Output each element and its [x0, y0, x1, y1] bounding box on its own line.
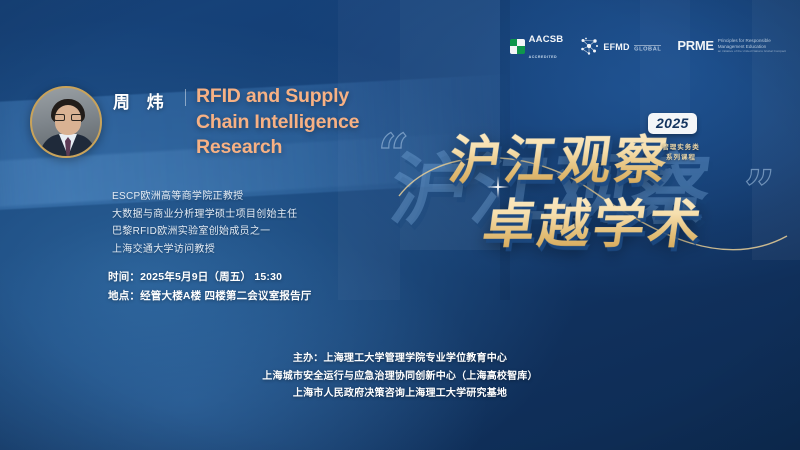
speaker-name: 周 炜 — [113, 88, 170, 113]
organizer-line: 主办：上海理工大学管理学院专业学位教育中心 — [0, 350, 800, 368]
speaker-credentials: ESCP欧洲高等商学院正教授 大数据与商业分析理学硕士项目创始主任 巴黎RFID… — [112, 188, 297, 258]
aacsb-logo-secondary: ACCREDITED — [529, 55, 558, 59]
event-time: 时间：2025年5月9日（周五） 15:30 — [108, 268, 312, 287]
series-subtitle-line1: 管理实务类 — [650, 143, 712, 153]
organizer-line: 上海城市安全运行与应急治理协同创新中心（上海高校智库） — [0, 368, 800, 386]
credential-line: ESCP欧洲高等商学院正教授 — [112, 188, 297, 206]
poster-canvas: AACSB ACCREDITED EFMD GL — [0, 0, 800, 450]
series-subtitle-line2: 系列课程 — [650, 153, 712, 163]
organizer-line: 上海市人民政府决策咨询上海理工大学研究基地 — [0, 385, 800, 403]
prme-logo-primary: PRME — [677, 38, 713, 53]
efmd-logo-secondary: GLOBAL — [634, 45, 661, 53]
event-details: 时间：2025年5月9日（周五） 15:30 地点：经管大楼A楼 四楼第二会议室… — [108, 268, 312, 307]
speaker-avatar — [30, 86, 102, 158]
credential-line: 上海交通大学访问教授 — [112, 241, 297, 259]
organizer-list: 主办：上海理工大学管理学院专业学位教育中心 上海城市安全运行与应急治理协同创新中… — [0, 350, 800, 403]
quote-open-icon: “ — [378, 122, 409, 186]
series-subtitle: 管理实务类 系列课程 — [650, 143, 712, 163]
quote-close-icon: ” — [744, 158, 775, 222]
aacsb-mark-icon — [510, 39, 525, 54]
efmd-network-icon — [579, 36, 599, 56]
aacsb-logo-primary: AACSB — [529, 34, 564, 45]
credential-line: 大数据与商业分析理学硕士项目创始主任 — [112, 206, 297, 224]
name-divider — [185, 89, 186, 106]
efmd-logo: EFMD GLOBAL — [579, 36, 661, 56]
aacsb-logo: AACSB ACCREDITED — [510, 30, 564, 62]
prme-logo-footnote: an initiative of the United Nations Glob… — [718, 50, 786, 54]
credential-line: 巴黎RFID欧洲实验室创始成员之一 — [112, 223, 297, 241]
efmd-logo-primary: EFMD — [603, 42, 629, 52]
accreditation-logo-strip: AACSB ACCREDITED EFMD GL — [510, 30, 786, 62]
year-badge: 2025 — [648, 113, 697, 134]
speaker-english-title: RFID and Supply Chain Intelligence Resea… — [196, 84, 406, 161]
prme-logo: PRME Principles for Responsible Manageme… — [677, 37, 786, 55]
glasses-icon — [54, 114, 82, 121]
event-location: 地点：经管大楼A楼 四楼第二会议室报告厅 — [108, 287, 312, 306]
